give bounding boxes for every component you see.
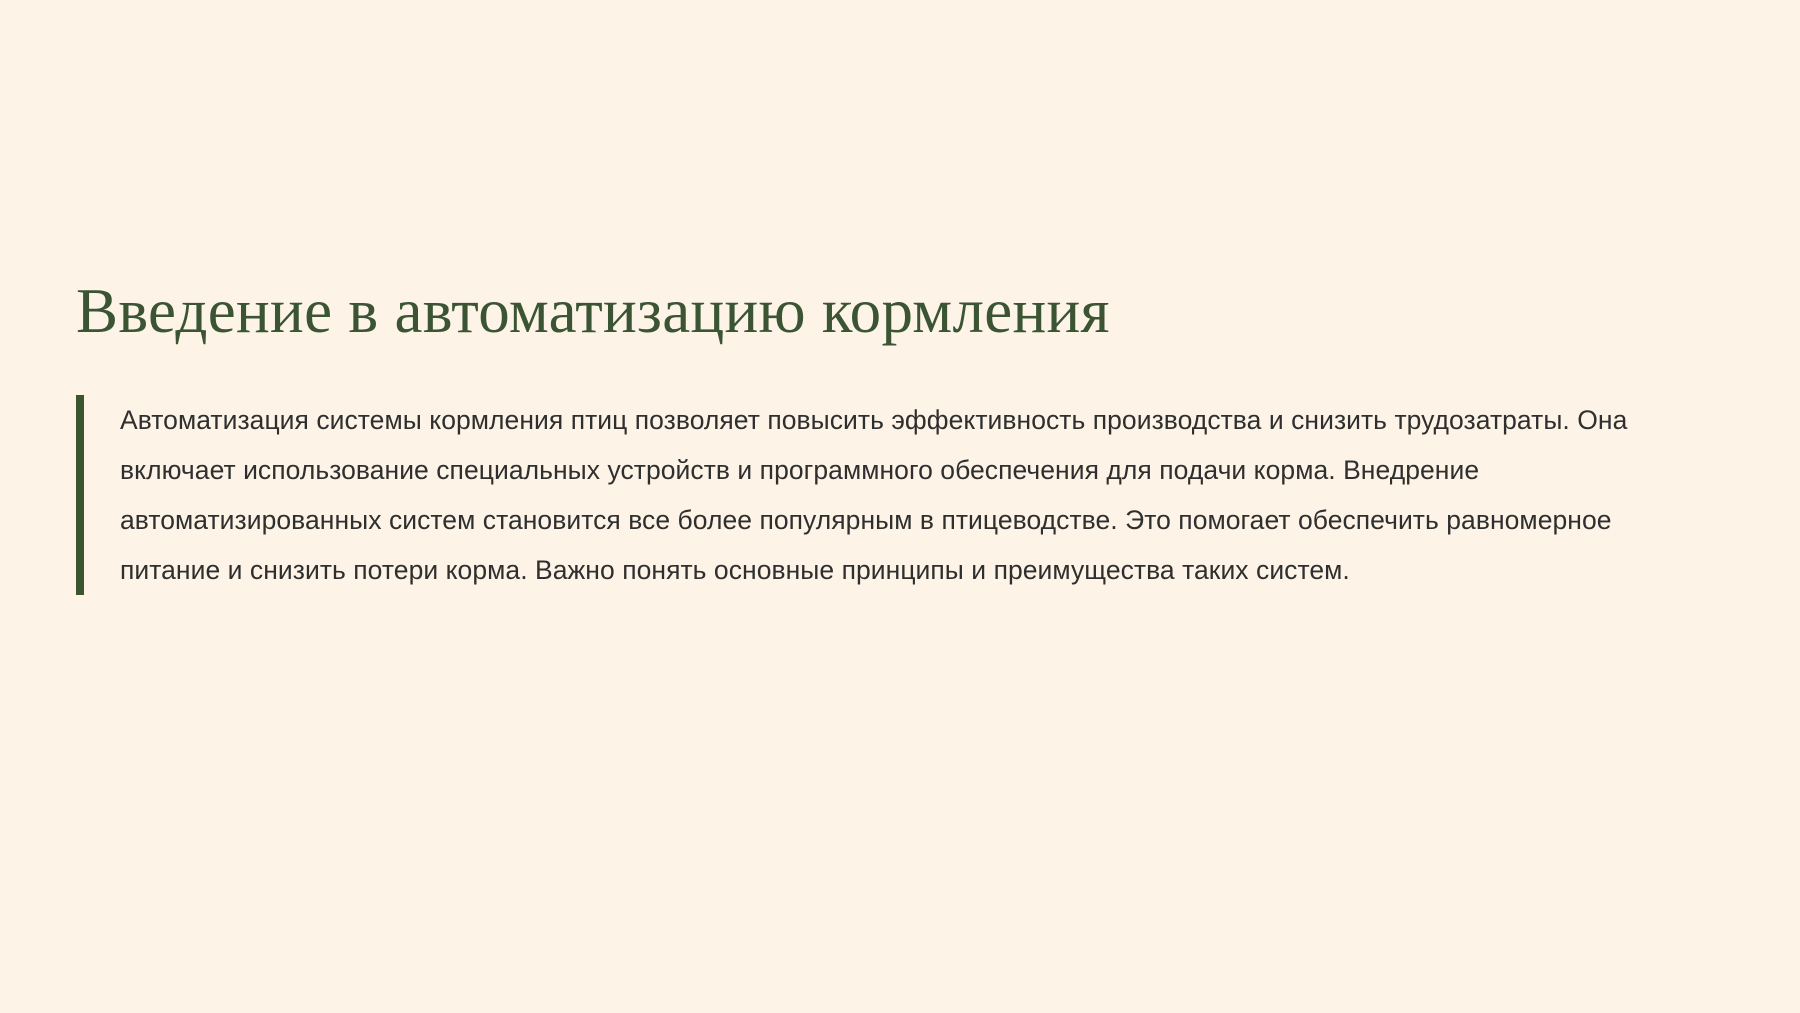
slide-canvas: Введение в автоматизацию кормления Автом…	[0, 0, 1800, 1013]
slide-content: Введение в автоматизацию кормления Автом…	[76, 276, 1716, 595]
accent-bar	[76, 395, 84, 595]
page-title: Введение в автоматизацию кормления	[76, 276, 1716, 347]
body-callout: Автоматизация системы кормления птиц поз…	[76, 395, 1716, 595]
body-paragraph: Автоматизация системы кормления птиц поз…	[120, 395, 1680, 595]
